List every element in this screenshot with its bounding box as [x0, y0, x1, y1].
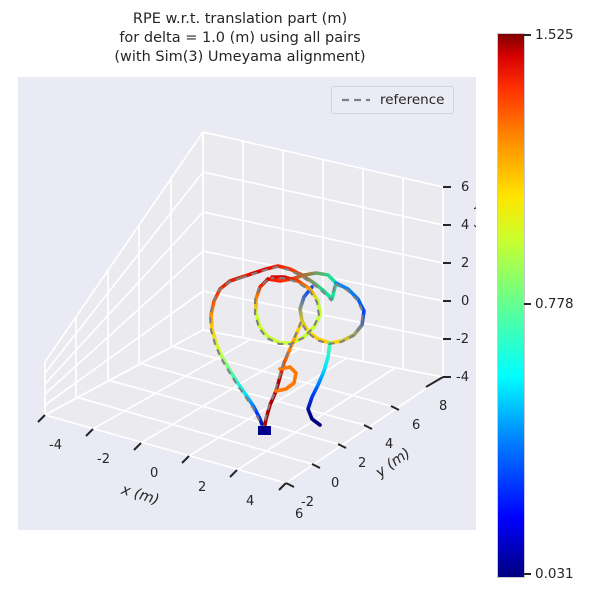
xtick-label-4: 4 [246, 494, 254, 509]
title-line-1: RPE w.r.t. translation part (m) [0, 10, 480, 29]
colorbar-tick-dash [524, 573, 531, 575]
ytick-label-0: -2 [301, 495, 314, 510]
ztick-label-5: 6 [461, 180, 469, 195]
ztick-label-1: -2 [456, 332, 469, 347]
ytick-label-2: 2 [358, 456, 366, 471]
figure-canvas: RPE w.r.t. translation part (m) for delt… [0, 0, 600, 600]
colorbar-tick-value-mid: 0.778 [535, 296, 574, 312]
colorbar-tick-value-min: 0.031 [535, 566, 574, 582]
ytick-label-3: 4 [385, 437, 393, 452]
legend[interactable]: reference [331, 86, 454, 114]
colorbar-tick-max: 1.525 [524, 27, 574, 43]
xtick-label-1: -2 [97, 452, 110, 467]
title-line-3: (with Sim(3) Umeyama alignment) [0, 48, 480, 67]
ztick-label-0: -4 [456, 370, 469, 385]
colorbar-tick-value-max: 1.525 [535, 27, 574, 43]
colorbar-tick-mid: 0.778 [524, 296, 574, 312]
ztick-label-2: 0 [461, 294, 469, 309]
ytick-label-1: 0 [331, 476, 339, 491]
colorbar-tick-dash [524, 303, 531, 305]
ytick-label-5: 8 [439, 399, 447, 414]
ytick-label-4: 6 [412, 418, 420, 433]
colorbar-tick-dash [524, 34, 531, 36]
xtick-label-0: -4 [49, 438, 62, 453]
xtick-label-2: 0 [150, 466, 158, 481]
page-title: RPE w.r.t. translation part (m) for delt… [0, 10, 480, 67]
title-line-2: for delta = 1.0 (m) using all pairs [0, 29, 480, 48]
colorbar[interactable] [497, 33, 525, 578]
ztick-label-3: 2 [461, 256, 469, 271]
plot-axes-3d[interactable]: -4 -2 0 2 4 6 x (m) -2 0 2 4 6 8 y (m) -… [18, 77, 476, 530]
ztick-label-4: 4 [461, 218, 469, 233]
trajectory-endpoint-marker [258, 426, 271, 435]
xtick-label-3: 2 [198, 480, 206, 495]
colorbar-tick-min: 0.031 [524, 566, 574, 582]
legend-item-label: reference [380, 92, 444, 108]
legend-dashed-line-icon [341, 94, 371, 106]
z-axis-label: z (m) [473, 205, 476, 243]
